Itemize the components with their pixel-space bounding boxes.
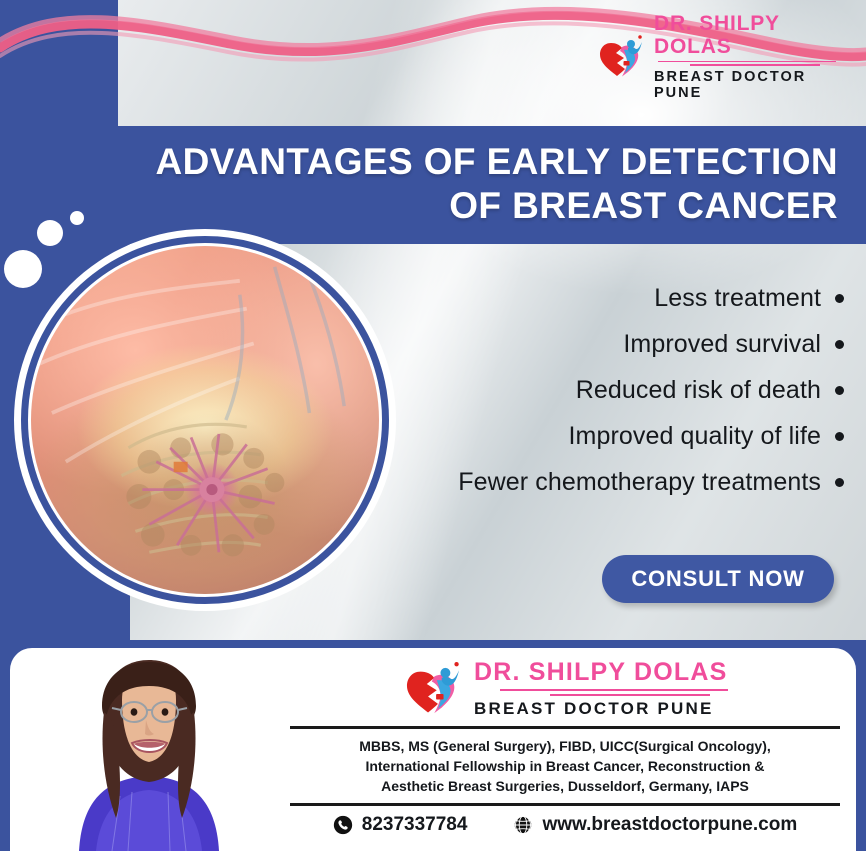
benefit-label: Reduced risk of death: [576, 378, 821, 403]
list-item: Fewer chemotherapy treatments: [324, 470, 844, 495]
header-logo[interactable]: DR. SHILPY DOLAS BREAST DOCTOR PUNE: [596, 26, 858, 88]
benefit-label: Improved survival: [623, 332, 821, 357]
phone-contact[interactable]: 8237337784: [333, 814, 468, 836]
header-rule-1: [658, 61, 836, 63]
title-line-1: ADVANTAGES OF EARLY DETECTION: [118, 140, 838, 184]
divider-top: [290, 726, 840, 729]
bullet-dot-icon: [835, 386, 844, 395]
benefits-list: Less treatment Improved survival Reduced…: [324, 286, 844, 516]
doctor-portrait: [24, 650, 274, 851]
credentials: MBBS, MS (General Surgery), FIBD, UICC(S…: [282, 736, 848, 797]
benefit-label: Less treatment: [654, 286, 821, 311]
credentials-line-1: MBBS, MS (General Surgery), FIBD, UICC(S…: [288, 736, 842, 756]
page-title: ADVANTAGES OF EARLY DETECTION OF BREAST …: [118, 140, 856, 227]
list-item: Improved quality of life: [324, 424, 844, 449]
heart-figure-logo-icon: [402, 658, 464, 720]
credentials-line-3: Aesthetic Breast Surgeries, Dusseldorf, …: [288, 776, 842, 796]
bullet-dot-icon: [835, 478, 844, 487]
benefit-label: Improved quality of life: [568, 424, 821, 449]
bullet-dot-icon: [835, 340, 844, 349]
contact-bar: 8237337784 www.breast: [282, 814, 848, 836]
header-brand-name: DR. SHILPY DOLAS: [654, 13, 858, 57]
footer-rule-1: [500, 689, 728, 691]
globe-icon: [513, 815, 533, 835]
doctor-portrait-illustration: [24, 650, 274, 851]
website-url: www.breastdoctorpune.com: [542, 814, 797, 836]
title-line-2: OF BREAST CANCER: [118, 184, 838, 228]
bullet-dot-icon: [835, 294, 844, 303]
consult-now-button[interactable]: CONSULT NOW: [602, 555, 834, 603]
footer-logo[interactable]: DR. SHILPY DOLAS BREAST DOCTOR PUNE: [282, 658, 848, 720]
list-item: Improved survival: [324, 332, 844, 357]
list-item: Less treatment: [324, 286, 844, 311]
bullet-dot-icon: [835, 432, 844, 441]
header-brand-sub: BREAST DOCTOR PUNE: [654, 69, 858, 101]
heart-figure-logo-icon: [596, 32, 646, 82]
list-item: Reduced risk of death: [324, 378, 844, 403]
credentials-line-2: International Fellowship in Breast Cance…: [288, 756, 842, 776]
phone-icon: [333, 815, 353, 835]
decorative-circle-small: [70, 211, 84, 225]
footer-card: DR. SHILPY DOLAS BREAST DOCTOR PUNE MBBS…: [10, 648, 856, 851]
footer-info: DR. SHILPY DOLAS BREAST DOCTOR PUNE MBBS…: [282, 652, 848, 851]
decorative-circle-large: [4, 250, 42, 288]
benefit-label: Fewer chemotherapy treatments: [458, 470, 821, 495]
decorative-circle-medium: [37, 220, 63, 246]
poster-canvas: DR. SHILPY DOLAS BREAST DOCTOR PUNE ADVA…: [0, 0, 866, 851]
footer-brand-sub: BREAST DOCTOR PUNE: [474, 699, 728, 719]
website-contact[interactable]: www.breastdoctorpune.com: [513, 814, 797, 836]
header-rule-2: [690, 64, 820, 66]
divider-bottom: [290, 803, 840, 806]
footer-rule-2: [550, 694, 710, 696]
phone-number: 8237337784: [362, 814, 468, 836]
footer-brand-name: DR. SHILPY DOLAS: [474, 659, 728, 687]
